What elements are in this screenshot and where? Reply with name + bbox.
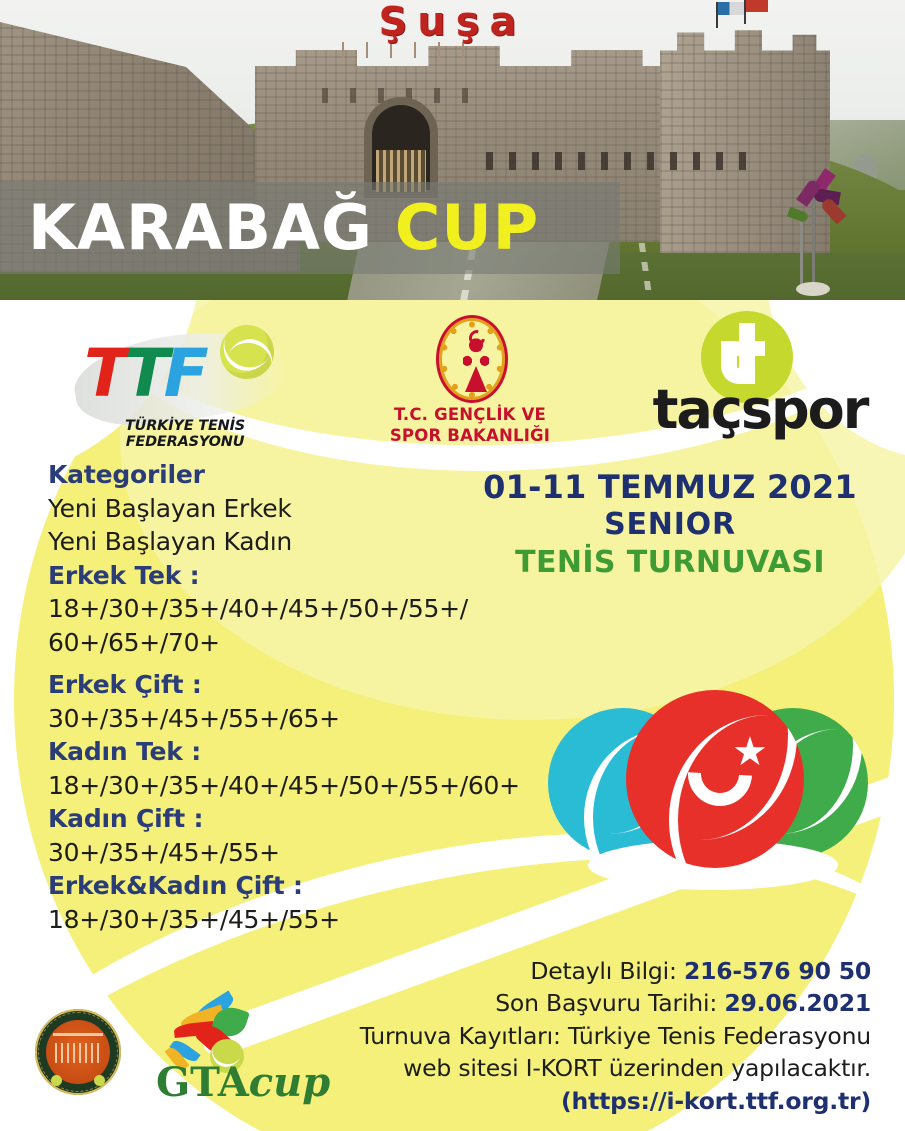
tacspor-logo: taçspor [645, 311, 875, 451]
contact-block: Detaylı Bilgi: 216-576 90 50 Son Başvuru… [311, 955, 871, 1117]
contact-phone-label: Detaylı Bilgi: [530, 957, 676, 985]
categories-heading: Kategoriler [48, 458, 548, 492]
fortress-photo: Şuşa KARABAĞ CUP [0, 0, 905, 300]
category-plain-item-2: Yeni Başlayan Kadın [48, 525, 548, 559]
club-logo-ball-right-icon [94, 1075, 105, 1086]
ministry-emblem-icon [436, 315, 508, 403]
contact-phone-value: 216-576 90 50 [684, 957, 871, 985]
club-logo [35, 1009, 121, 1095]
event-level: SENIOR [475, 507, 865, 544]
event-type: TENİS TURNUVASI [475, 544, 865, 582]
contact-deadline-value: 29.06.2021 [724, 989, 871, 1017]
category-label-kadin-tek: Kadın Tek : [48, 735, 548, 769]
ttf-letter-2: T [125, 335, 164, 412]
wall-window-row-lower [470, 152, 760, 170]
ttf-letter-3: F [164, 335, 203, 412]
tacspor-t-bar-icon [721, 341, 765, 356]
ministry-logo-caption: T.C. GENÇLİK VE SPOR BAKANLIĞI [370, 405, 570, 446]
categories-column: Kategoriler Yeni Başlayan Erkek Yeni Baş… [48, 458, 548, 936]
tacspor-wordmark: taçspor [637, 383, 883, 437]
spacer-1 [48, 659, 548, 668]
ministry-caption-line-2: SPOR BAKANLIĞI [370, 426, 570, 447]
event-dates: 01-11 TEMMUZ 2021 [475, 468, 865, 507]
tennis-ball-turkish-flag-icon: ★ [626, 690, 804, 868]
club-logo-bridge-icon [55, 1043, 101, 1063]
ministry-caption-line-1: T.C. GENÇLİK VE [370, 405, 570, 426]
registration-line-2: web sitesi I-KORT üzerinden yapılacaktır… [311, 1052, 871, 1084]
sponsor-logo-row: TTF TÜRKİYE TENİS FEDERASYONU T.C. GENÇL… [0, 305, 905, 450]
category-label-erkek-tek: Erkek Tek : [48, 559, 548, 593]
tennis-balls-graphic: ★ [548, 690, 878, 880]
category-values-erkek-cift: 30+/35+/45+/55+/65+ [48, 702, 548, 736]
ministry-logo: T.C. GENÇLİK VE SPOR BAKANLIĞI [370, 311, 570, 451]
contact-deadline-line: Son Başvuru Tarihi: 29.06.2021 [311, 987, 871, 1019]
susa-sign-text: Şuşa [0, 2, 905, 42]
poster-title-primary: KARABAĞ [28, 197, 373, 259]
contact-deadline-label: Son Başvuru Tarihi: [495, 989, 717, 1017]
ministry-triangle-icon [465, 366, 487, 392]
category-values-erkek-tek-line1: 18+/30+/35+/40+/45+/50+/55+/ [48, 592, 548, 626]
category-label-erkek-cift: Erkek Çift : [48, 668, 548, 702]
ttf-tennis-ball-icon [220, 325, 274, 379]
category-plain-item-1: Yeni Başlayan Erkek [48, 492, 548, 526]
category-label-erkek-kadin-cift: Erkek&Kadın Çift : [48, 869, 548, 903]
category-values-kadin-cift: 30+/35+/45+/55+ [48, 836, 548, 870]
registration-line-1: Turnuva Kayıtları: Türkiye Tenis Federas… [311, 1020, 871, 1052]
club-logo-ball-left-icon [51, 1075, 62, 1086]
poster-title-secondary: CUP [395, 197, 539, 259]
ttf-letter-1: T [84, 335, 125, 412]
title-banner: KARABAĞ CUP [0, 182, 905, 274]
gtacup-word-main: GTA [156, 1059, 249, 1106]
registration-url[interactable]: (https://i-kort.ttf.org.tr) [311, 1085, 871, 1117]
ttf-logo-caption: TÜRKİYE TENİS FEDERASYONU [70, 418, 300, 450]
gtacup-wordmark: GTAcup [156, 1063, 330, 1103]
ttf-logo: TTF TÜRKİYE TENİS FEDERASYONU [70, 313, 300, 443]
category-values-erkek-tek-line2: 60+/65+/70+ [48, 626, 548, 660]
wall-window-row-upper [300, 88, 470, 103]
category-values-kadin-tek: 18+/30+/35+/40+/45+/50+/55+/60+ [48, 769, 548, 803]
event-header: 01-11 TEMMUZ 2021 SENIOR TENİS TURNUVASI [475, 468, 865, 581]
tournament-poster: Şuşa KARABAĞ CUP [0, 0, 905, 1131]
gtacup-logo: GTAcup [150, 1001, 350, 1111]
category-values-erkek-kadin-cift: 18+/30+/35+/45+/55+ [48, 903, 548, 937]
gtacup-word-sub: cup [249, 1059, 330, 1106]
star-icon: ★ [732, 732, 768, 772]
poster-body: TTF TÜRKİYE TENİS FEDERASYONU T.C. GENÇL… [0, 300, 905, 1131]
ttf-monogram: TTF [84, 341, 203, 407]
contact-phone-line: Detaylı Bilgi: 216-576 90 50 [311, 955, 871, 987]
category-label-kadin-cift: Kadın Çift : [48, 802, 548, 836]
pinwheel-base-rock [796, 282, 830, 296]
